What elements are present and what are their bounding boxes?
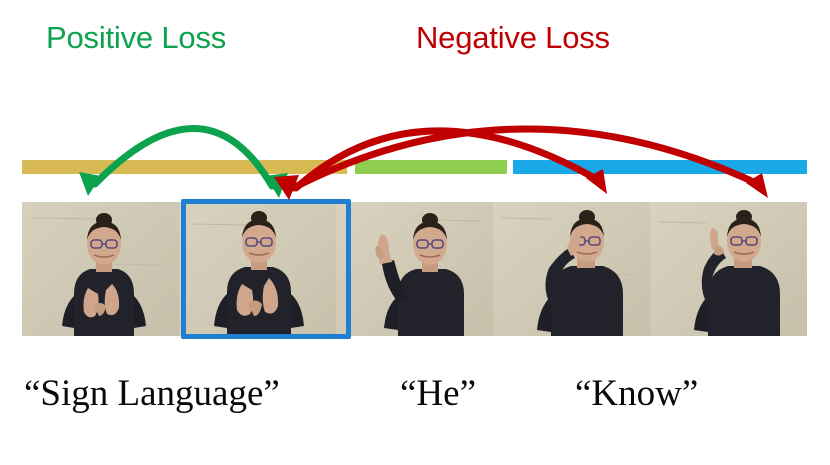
video-frame-3[interactable] [336,202,493,336]
figure-canvas: Positive Loss Negative Loss [0,0,830,465]
selected-frame-highlight[interactable] [181,199,351,339]
video-frame-1[interactable] [22,202,179,336]
caption-he: “He” [400,375,476,412]
segment-bar-know [513,160,807,174]
segment-bar-he [355,160,507,174]
negative-loss-target-head [274,175,299,200]
caption-sign-language: “Sign Language” [24,375,280,412]
positive-loss-label: Positive Loss [46,22,226,53]
video-frame-5[interactable] [650,202,807,336]
segment-bar-sign-language [22,160,347,174]
video-frame-strip [22,202,807,336]
negative-loss-label: Negative Loss [416,22,610,53]
caption-know: “Know” [575,375,698,412]
video-frame-4[interactable] [493,202,650,336]
